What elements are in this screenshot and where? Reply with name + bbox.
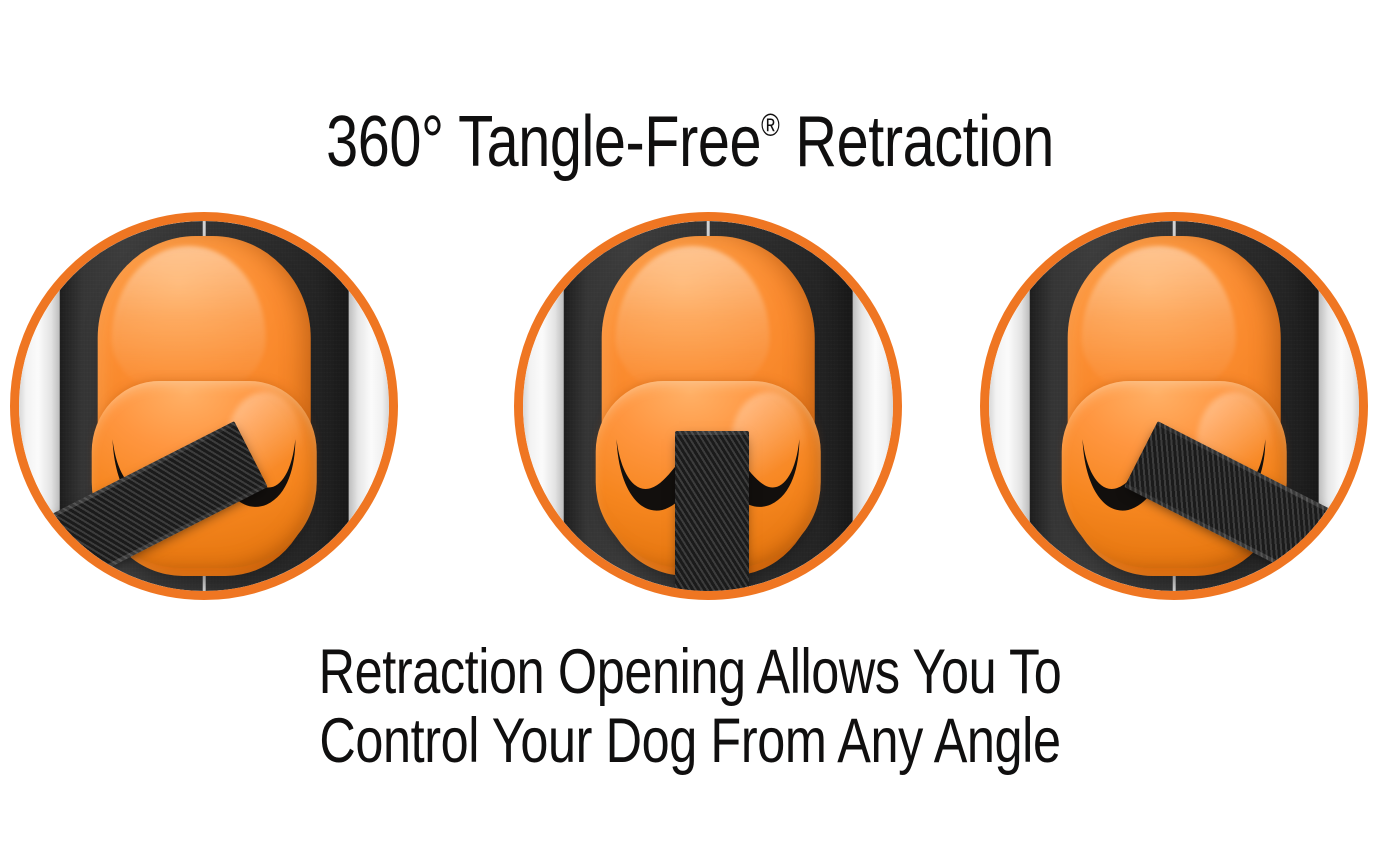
leash-photo-center (523, 221, 893, 591)
leash-photo-right (989, 221, 1359, 591)
page-title-suffix: Retraction (780, 102, 1054, 182)
shell-highlight-left (523, 221, 564, 591)
page-title: 360° Tangle-Free® Retraction (138, 106, 1242, 178)
shell-highlight-left (989, 221, 1030, 591)
page-title-text: 360° Tangle-Free (326, 102, 761, 182)
leash-photo-left (19, 221, 389, 591)
webbing-strap (675, 431, 749, 591)
caption-line-2: Control Your Dog From Any Angle (138, 707, 1242, 776)
feature-image-right (980, 212, 1368, 600)
shell-highlight-right (348, 221, 389, 591)
product-feature-graphic: 360° Tangle-Free® Retraction (0, 0, 1380, 853)
feature-image-left (10, 212, 398, 600)
feature-caption: Retraction Opening Allows You To Control… (138, 638, 1242, 777)
feature-image-row (0, 212, 1380, 608)
feature-image-center (514, 212, 902, 600)
caption-line-1: Retraction Opening Allows You To (138, 638, 1242, 707)
strap-edge-top (675, 431, 749, 435)
registered-trademark-icon: ® (761, 107, 780, 143)
shell-highlight-right (852, 221, 893, 591)
